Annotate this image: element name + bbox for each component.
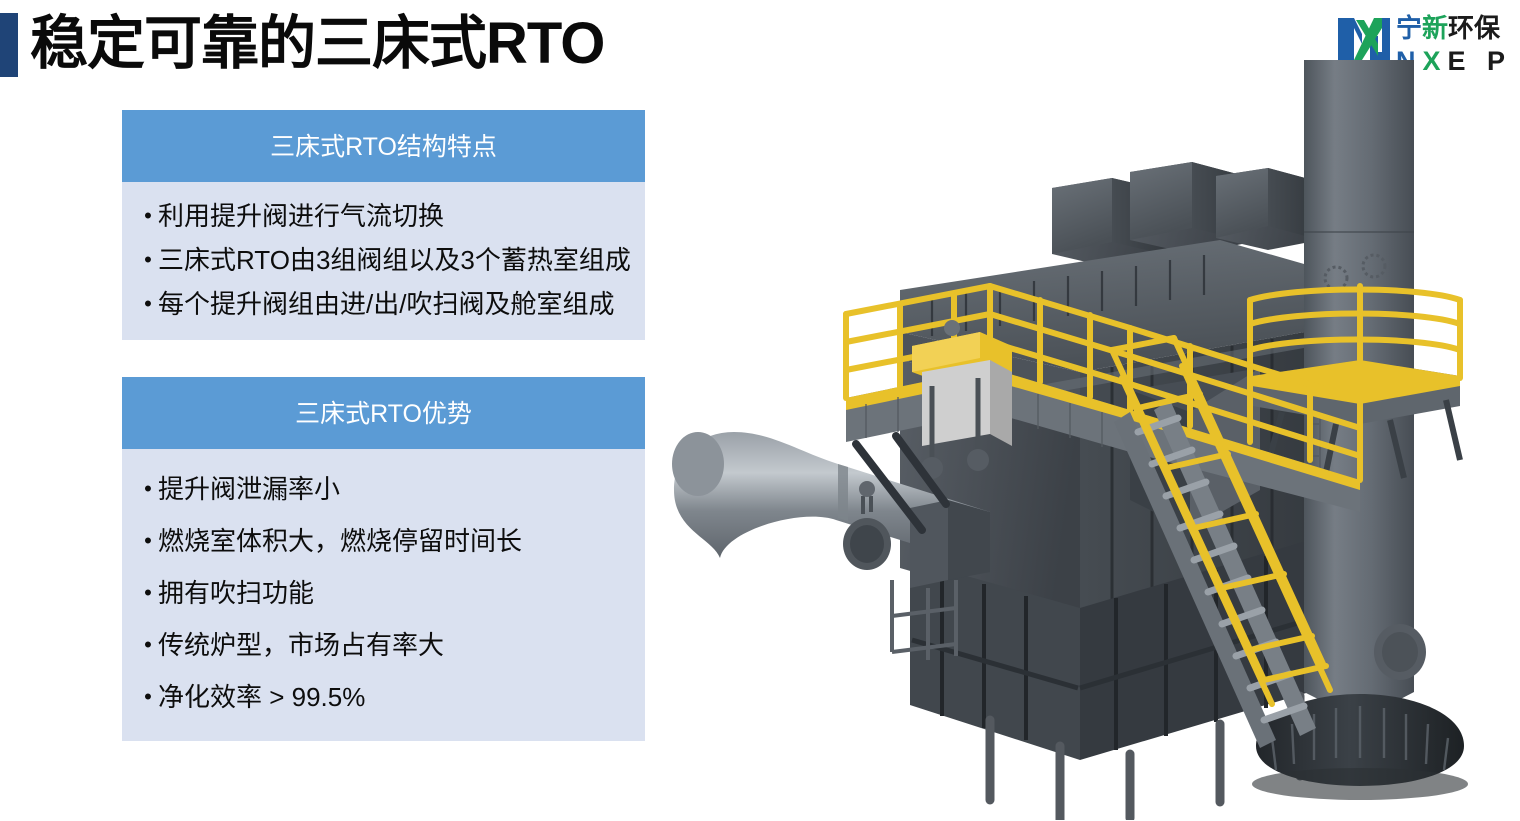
list-item-label: 传统炉型，市场占有率大	[158, 628, 631, 662]
bullet-dot-icon: •	[138, 524, 158, 558]
list-item-label: 净化效率 > 99.5%	[158, 680, 631, 714]
list-item-label: 拥有吹扫功能	[158, 576, 631, 610]
bullet-dot-icon: •	[138, 472, 158, 506]
logo-chinese-text: 宁新环保	[1396, 12, 1500, 44]
list-item-label: 三床式RTO由3组阀组以及3个蓄热室组成	[158, 243, 631, 277]
list-item: • 传统炉型，市场占有率大	[122, 619, 645, 671]
bullet-dot-icon: •	[138, 628, 158, 662]
logo-cn-char-3: 环保	[1448, 13, 1500, 43]
list-item-label: 利用提升阀进行气流切换	[158, 199, 631, 233]
bullet-dot-icon: •	[138, 243, 158, 277]
panel-advantages-header: 三床式RTO优势	[122, 377, 645, 449]
nxep-monogram-icon	[1336, 14, 1392, 64]
list-item-label: 提升阀泄漏率小	[158, 472, 631, 506]
page-title: 稳定可靠的三床式RTO	[30, 8, 604, 80]
list-item: • 净化效率 > 99.5%	[122, 671, 645, 723]
logo-cn-char-2: 新	[1422, 13, 1448, 43]
list-item: • 拥有吹扫功能	[122, 567, 645, 619]
title-accent-bar	[0, 13, 18, 77]
panel-advantages-body: • 提升阀泄漏率小 • 燃烧室体积大，燃烧停留时间长 • 拥有吹扫功能 • 传统…	[122, 449, 645, 741]
rto-equipment-render	[660, 60, 1520, 820]
list-item: • 提升阀泄漏率小	[122, 463, 645, 515]
list-item-label: 每个提升阀组由进/出/吹扫阀及舱室组成	[158, 287, 631, 321]
slide-root: 稳定可靠的三床式RTO 宁新环保 NXE P 三床式RTO结构特点 • 利用	[0, 0, 1520, 821]
list-item-label: 燃烧室体积大，燃烧停留时间长	[158, 524, 631, 558]
bullet-dot-icon: •	[138, 287, 158, 321]
bullet-dot-icon: •	[138, 576, 158, 610]
list-item: • 三床式RTO由3组阀组以及3个蓄热室组成	[122, 238, 645, 282]
list-item: • 每个提升阀组由进/出/吹扫阀及舱室组成	[122, 282, 645, 326]
list-item: • 利用提升阀进行气流切换	[122, 194, 645, 238]
panel-structure-header: 三床式RTO结构特点	[122, 110, 645, 182]
panel-structure-body: • 利用提升阀进行气流切换 • 三床式RTO由3组阀组以及3个蓄热室组成 • 每…	[122, 182, 645, 340]
panel-advantages: 三床式RTO优势 • 提升阀泄漏率小 • 燃烧室体积大，燃烧停留时间长 • 拥有…	[122, 377, 645, 741]
bullet-dot-icon: •	[138, 199, 158, 233]
bullet-dot-icon: •	[138, 680, 158, 714]
panel-structure-features: 三床式RTO结构特点 • 利用提升阀进行气流切换 • 三床式RTO由3组阀组以及…	[122, 110, 645, 340]
list-item: • 燃烧室体积大，燃烧停留时间长	[122, 515, 645, 567]
logo-cn-char-1: 宁	[1396, 13, 1422, 43]
